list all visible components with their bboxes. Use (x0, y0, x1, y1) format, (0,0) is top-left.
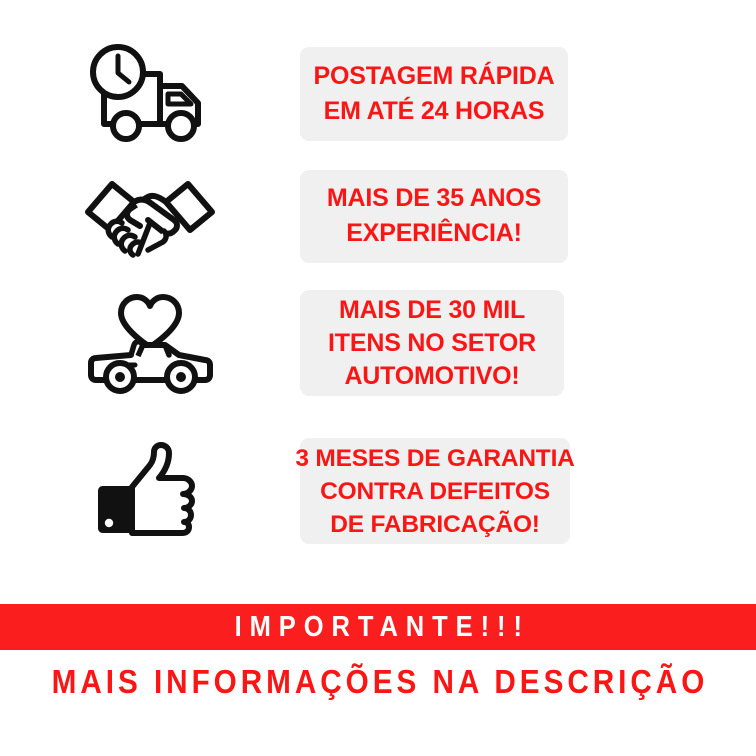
handshake-icon (0, 168, 300, 264)
promo-banner-page: POSTAGEM RÁPIDA EM ATÉ 24 HORAS (0, 0, 756, 756)
important-banner: IMPORTANTE!!! (0, 604, 756, 650)
important-banner-label: IMPORTANTE!!! (226, 611, 529, 644)
benefit-row: 3 MESES DE GARANTIA CONTRA DEFEITOS DE F… (0, 437, 756, 545)
benefit-line: CONTRA DEFEITOS (320, 475, 550, 508)
benefit-line: MAIS DE 35 ANOS (327, 181, 541, 216)
description-callout-label: MAIS INFORMAÇÕES NA DESCRIÇÃO (48, 663, 709, 701)
benefit-text-box: 3 MESES DE GARANTIA CONTRA DEFEITOS DE F… (300, 438, 570, 544)
benefit-line: MAIS DE 30 MIL (339, 294, 525, 327)
benefit-text-cell: 3 MESES DE GARANTIA CONTRA DEFEITOS DE F… (300, 438, 570, 544)
benefit-line: AUTOMOTIVO! (344, 360, 519, 393)
car-heart-icon (0, 289, 300, 397)
benefit-text-cell: POSTAGEM RÁPIDA EM ATÉ 24 HORAS (300, 47, 568, 141)
benefit-row: POSTAGEM RÁPIDA EM ATÉ 24 HORAS (0, 40, 756, 148)
benefit-text-cell: MAIS DE 30 MIL ITENS NO SETOR AUTOMOTIVO… (300, 290, 564, 396)
benefit-row: MAIS DE 35 ANOS EXPERIÊNCIA! (0, 168, 756, 264)
description-callout: MAIS INFORMAÇÕES NA DESCRIÇÃO (0, 658, 756, 706)
benefit-line: EXPERIÊNCIA! (346, 216, 521, 251)
benefit-text-cell: MAIS DE 35 ANOS EXPERIÊNCIA! (300, 170, 568, 263)
delivery-truck-clock-icon (0, 40, 300, 148)
benefit-line: 3 MESES DE GARANTIA (295, 442, 574, 475)
benefit-line: DE FABRICAÇÃO! (330, 508, 540, 541)
benefit-text-box: POSTAGEM RÁPIDA EM ATÉ 24 HORAS (300, 47, 568, 141)
benefit-line: EM ATÉ 24 HORAS (324, 94, 545, 129)
benefit-line: ITENS NO SETOR (328, 327, 536, 360)
benefit-row: MAIS DE 30 MIL ITENS NO SETOR AUTOMOTIVO… (0, 289, 756, 397)
thumbs-up-icon (0, 437, 300, 545)
benefit-text-box: MAIS DE 30 MIL ITENS NO SETOR AUTOMOTIVO… (300, 290, 564, 396)
benefit-line: POSTAGEM RÁPIDA (314, 59, 555, 94)
benefit-text-box: MAIS DE 35 ANOS EXPERIÊNCIA! (300, 170, 568, 263)
